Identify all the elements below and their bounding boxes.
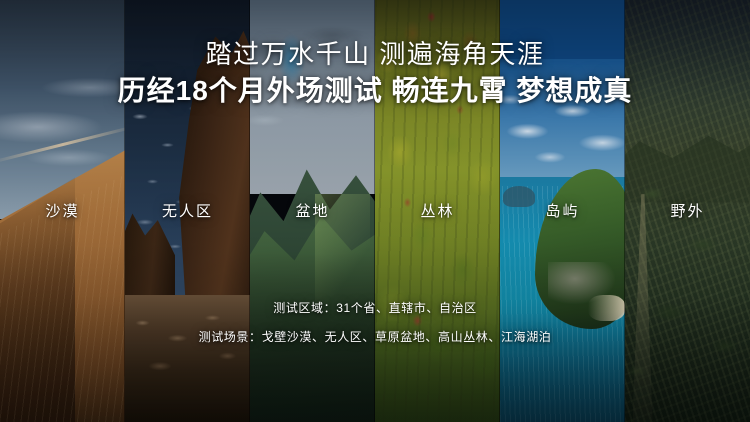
panel-label-no-mans-land: 无人区 [125, 203, 250, 221]
scene-panel-basin[interactable]: 盆地 [250, 0, 375, 422]
scene-panel-island[interactable]: 岛屿 [500, 0, 625, 422]
promo-banner: 沙漠 无人区 [0, 0, 750, 422]
basin-valley-shadow [250, 253, 375, 422]
scene-panel-wilderness[interactable]: 野外 [625, 0, 750, 422]
island-clouds [500, 42, 625, 185]
basin-clouds [250, 0, 375, 194]
panel-label-island: 岛屿 [500, 203, 625, 221]
panel-label-jungle: 丛林 [375, 203, 500, 221]
panel-label-basin: 盆地 [250, 203, 375, 221]
island-water-shadow [500, 312, 625, 422]
badlands-rocks [125, 295, 250, 422]
scene-panel-strip: 沙漠 无人区 [0, 0, 750, 422]
scene-panel-no-mans-land[interactable]: 无人区 [125, 0, 250, 422]
scene-panel-jungle[interactable]: 丛林 [375, 0, 500, 422]
panel-label-desert: 沙漠 [0, 203, 125, 221]
panel-label-wilderness: 野外 [625, 203, 750, 221]
basin-blue-sky-patch [278, 34, 306, 85]
scene-panel-desert[interactable]: 沙漠 [0, 0, 125, 422]
